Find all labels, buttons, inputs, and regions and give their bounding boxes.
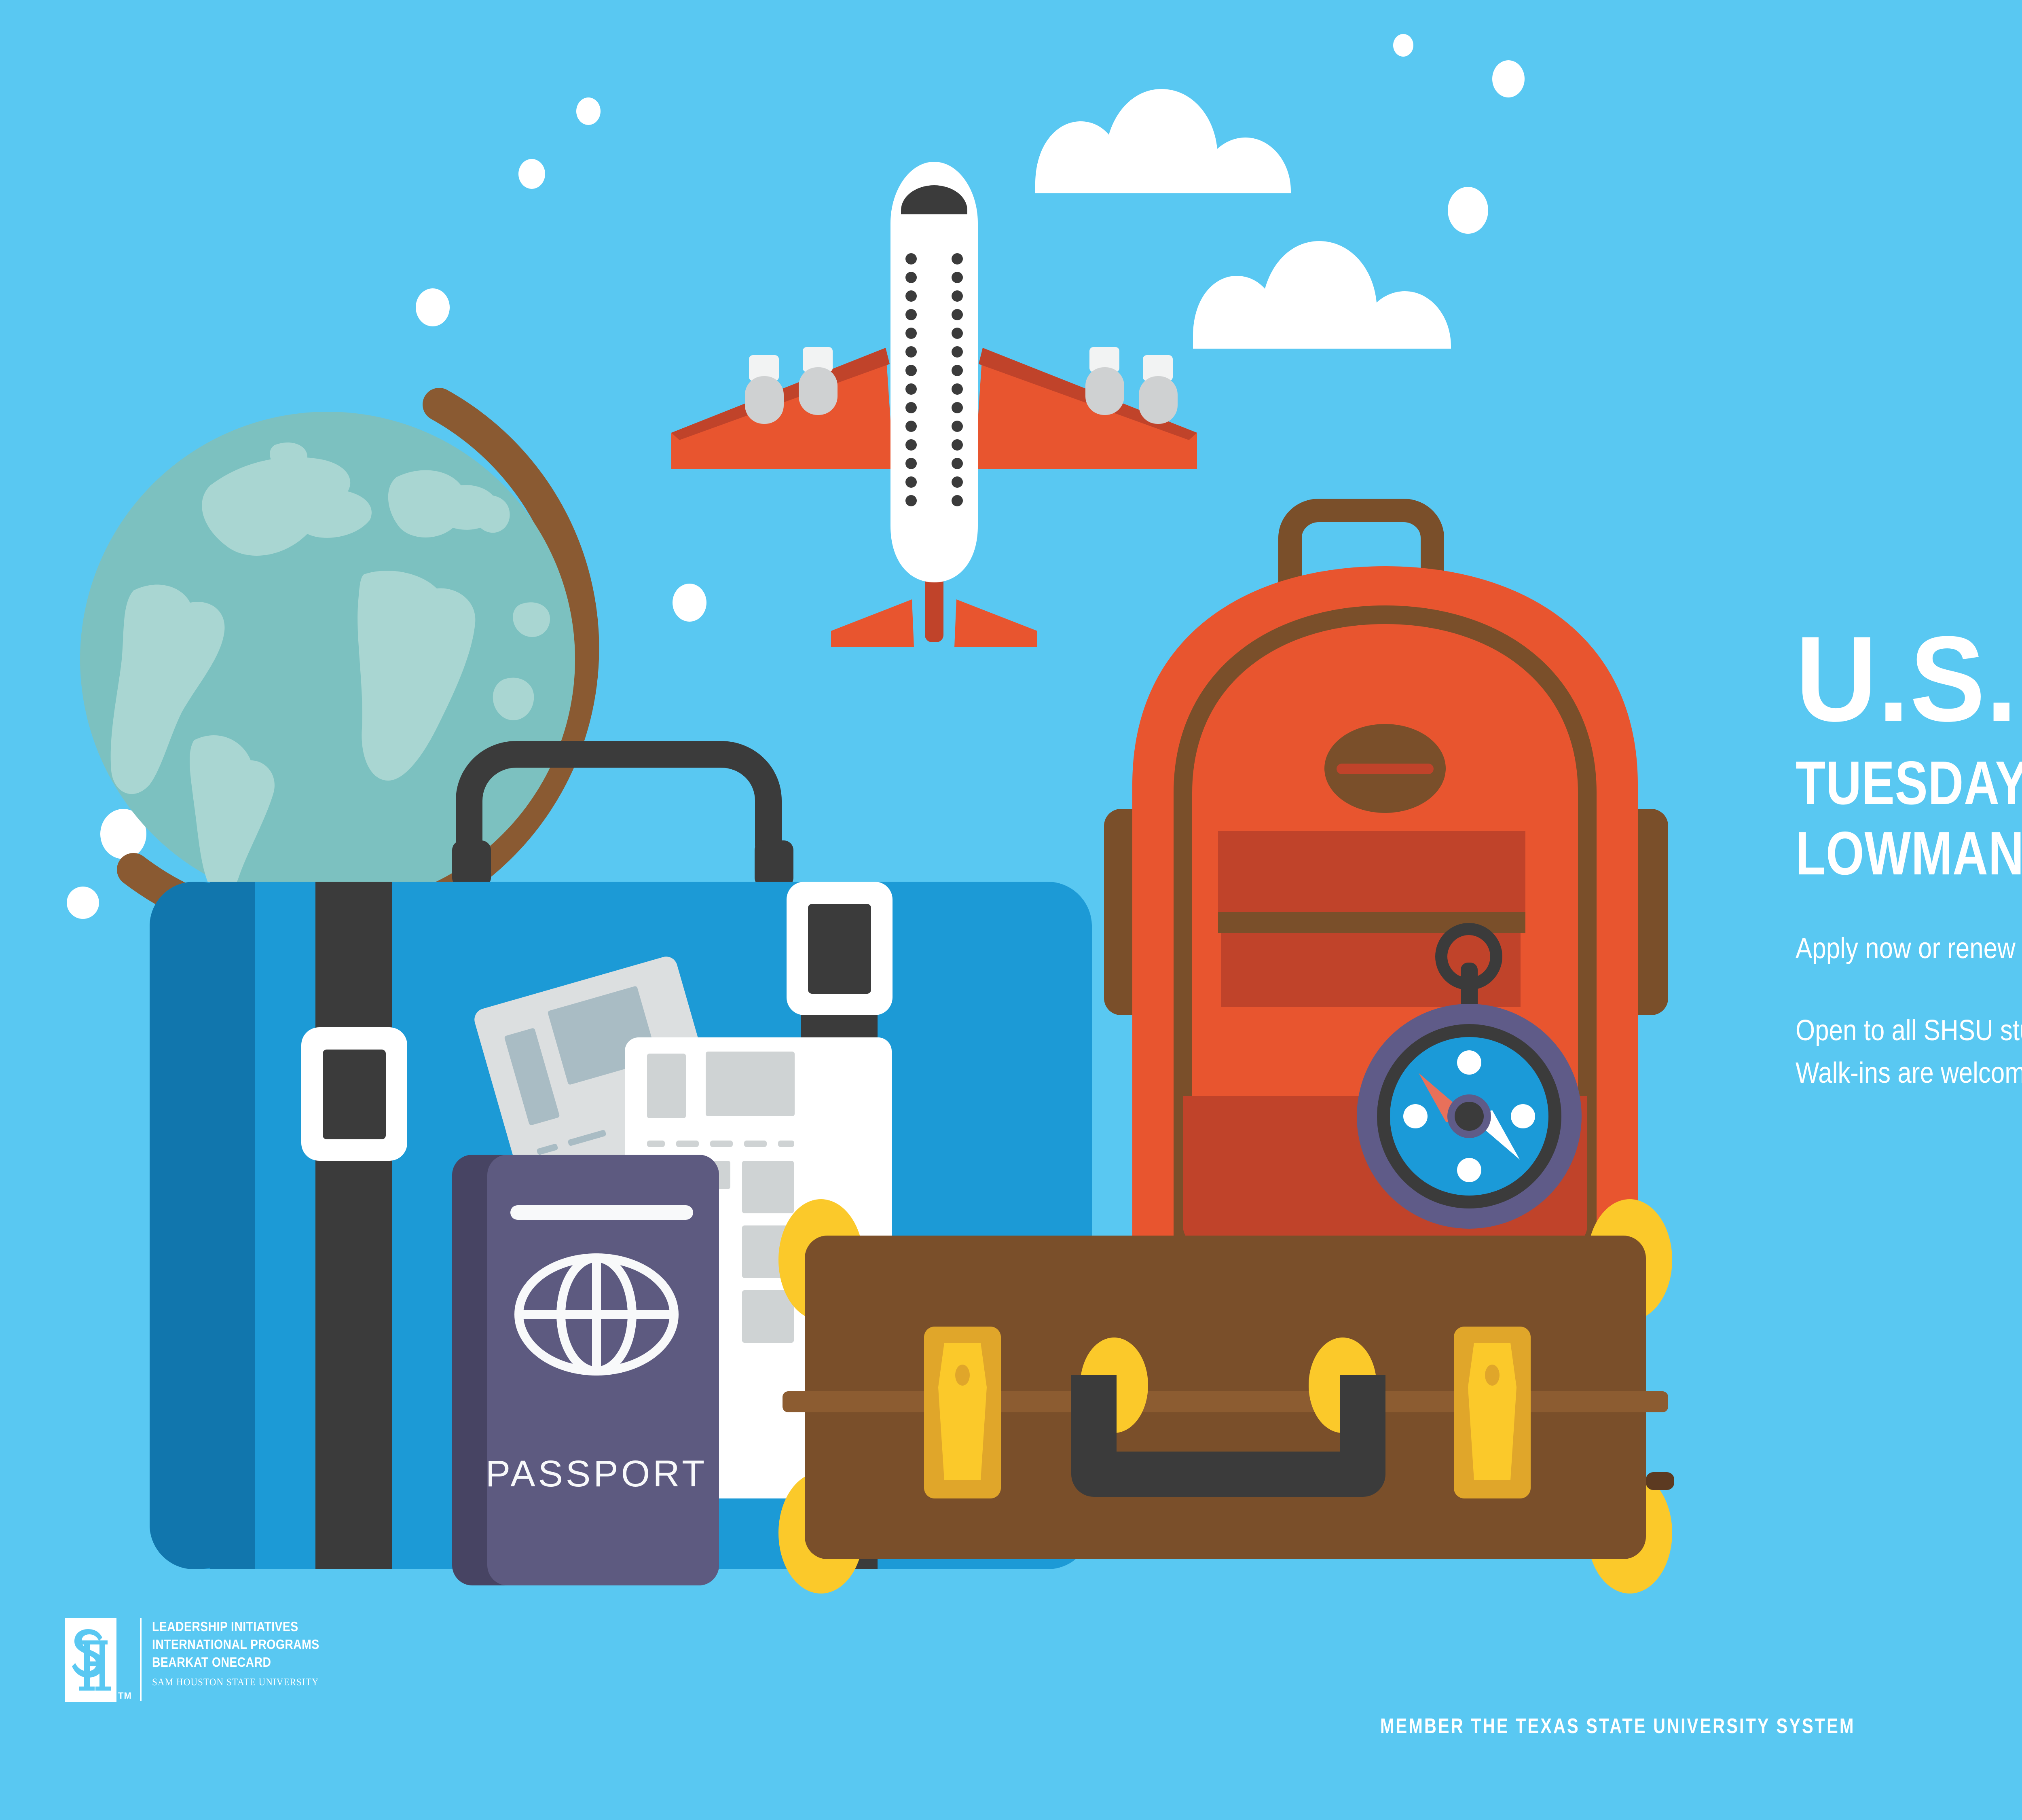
system-membership-text: MEMBER THE TEXAS STATE UNIVERSITY SYSTEM (1380, 1714, 1855, 1738)
sh-letterform-icon (65, 1618, 116, 1702)
sh-monogram-icon: TM (65, 1618, 116, 1702)
poster-canvas: PASSPORT U. (0, 0, 2022, 1820)
body-text-walkins: Walk-ins are welcome, appointments are s… (1796, 1054, 2022, 1092)
shsu-logo: TM LEADERSHIP INITIATIVES INTERNATIONAL … (65, 1618, 347, 1702)
brown-suitcase (778, 1199, 1674, 1594)
text-column: U.S. PASSPORT FAIR TUESDAY, FEBRUARY 5 9… (1796, 623, 2022, 1092)
travel-illustration: PASSPORT (0, 0, 2022, 1820)
logo-text-block: LEADERSHIP INITIATIVES INTERNATIONAL PRO… (152, 1618, 347, 1688)
logo-divider (140, 1618, 142, 1701)
body-text-apply: Apply now or renew your U.S. passport wi… (1796, 929, 2022, 968)
logo-line-leadership: LEADERSHIP INITIATIVES (152, 1618, 319, 1636)
trademark-symbol: TM (118, 1691, 132, 1701)
page-title: U.S. PASSPORT FAIR (1796, 623, 2022, 734)
event-date: TUESDAY, FEBRUARY 5 (1796, 752, 2022, 814)
event-datetime-row: TUESDAY, FEBRUARY 5 9:00AM-4:30PM (1796, 752, 2022, 814)
logo-line-onecard: BEARKAT ONECARD (152, 1653, 319, 1671)
passport-booklet: PASSPORT (452, 1155, 719, 1585)
body-text-eligibility: Open to all SHSU students, faculty and s… (1796, 1012, 2022, 1050)
logo-university-name: SAM HOUSTON STATE UNIVERSITY (152, 1677, 331, 1688)
event-venue: LOWMAN STUDENT CENTER ROOM 320 (1796, 823, 2022, 884)
logo-line-international: INTERNATIONAL PROGRAMS (152, 1636, 319, 1653)
svg-text:PASSPORT: PASSPORT (486, 1453, 708, 1494)
system-membership-footer: MEMBER THE TEXAS STATE UNIVERSITY SYSTEM (0, 1714, 2022, 1738)
